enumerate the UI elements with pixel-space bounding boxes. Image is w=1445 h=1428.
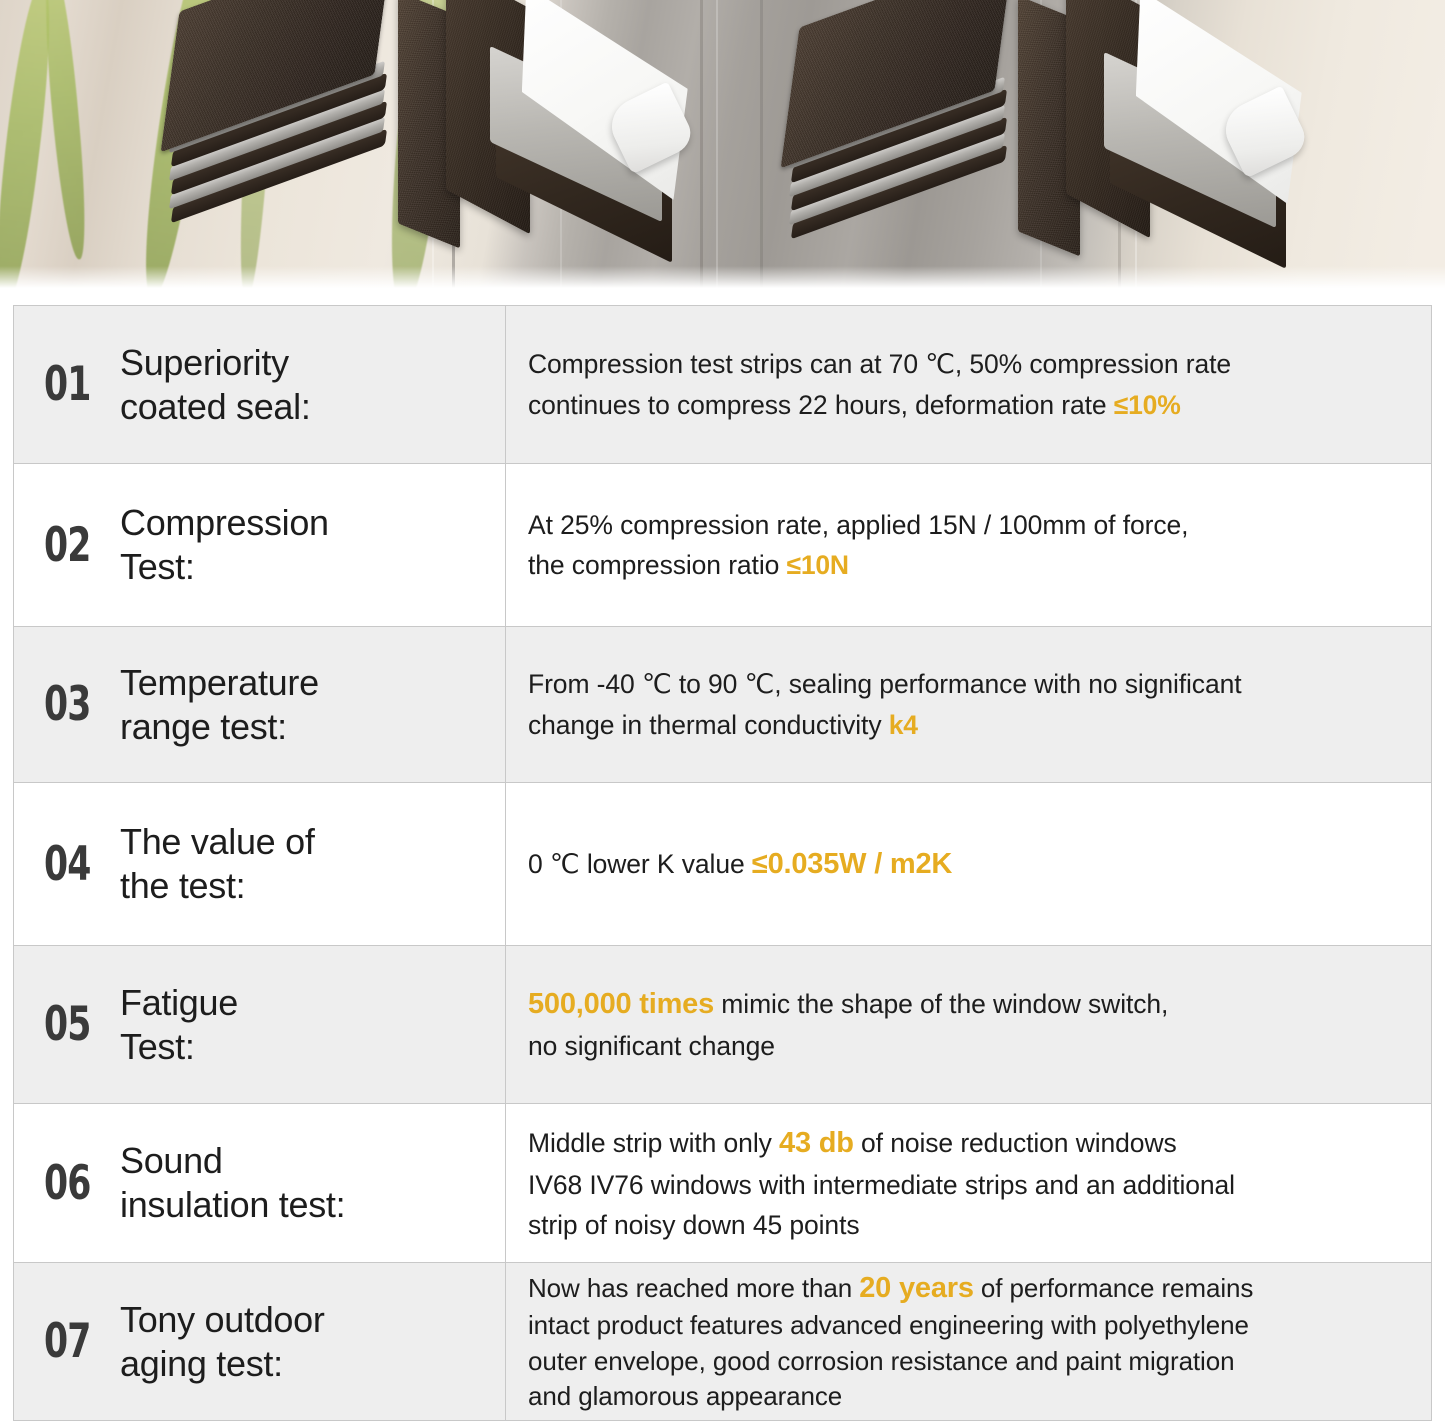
- spec-number: 04: [44, 841, 92, 888]
- spec-label: Tony outdoor aging test:: [120, 1298, 325, 1386]
- spec-highlight: k4: [889, 710, 918, 740]
- hero-bottom-fade: [0, 266, 1445, 290]
- table-row: 05 Fatigue Test: 500,000 times mimic the…: [14, 946, 1432, 1104]
- spec-body-cell: Middle strip with only 43 db of noise re…: [506, 1104, 1432, 1263]
- spec-label-cell: 05 Fatigue Test:: [14, 946, 506, 1104]
- spec-label-cell: 04 The value of the test:: [14, 783, 506, 946]
- spec-label-cell: 03 Temperature range test:: [14, 627, 506, 783]
- spec-body-cell: 500,000 times mimic the shape of the win…: [506, 946, 1432, 1104]
- spec-label-cell: 07 Tony outdoor aging test:: [14, 1263, 506, 1421]
- spec-label: The value of the test:: [120, 820, 315, 908]
- spec-label: Sound insulation test:: [120, 1139, 345, 1227]
- spec-body-pre: Now has reached more than: [528, 1273, 859, 1303]
- product-group-right: [770, 0, 1330, 290]
- spec-body-pre: Middle strip with only: [528, 1128, 779, 1158]
- spec-label-cell: 02 Compression Test:: [14, 464, 506, 627]
- spec-body-cell: Now has reached more than 20 years of pe…: [506, 1263, 1432, 1421]
- spec-body-cell: From -40 ℃ to 90 ℃, sealing performance …: [506, 627, 1432, 783]
- spec-body-cell: At 25% compression rate, applied 15N / 1…: [506, 464, 1432, 627]
- spec-body: From -40 ℃ to 90 ℃, sealing performance …: [528, 664, 1413, 745]
- spec-highlight: 43 db: [779, 1127, 854, 1159]
- table-row: 03 Temperature range test: From -40 ℃ to…: [14, 627, 1432, 783]
- spec-label: Fatigue Test:: [120, 981, 238, 1069]
- spec-body: At 25% compression rate, applied 15N / 1…: [528, 505, 1413, 586]
- spec-body-cell: Compression test strips can at 70 ℃, 50%…: [506, 306, 1432, 464]
- spec-number: 03: [44, 681, 92, 728]
- spec-body: Now has reached more than 20 years of pe…: [528, 1269, 1413, 1415]
- spec-body: 500,000 times mimic the shape of the win…: [528, 982, 1413, 1066]
- table-row: 01 Superiority coated seal: Compression …: [14, 306, 1432, 464]
- spec-number: 01: [44, 361, 92, 408]
- spec-label-cell: 01 Superiority coated seal:: [14, 306, 506, 464]
- table-row: 02 Compression Test: At 25% compression …: [14, 464, 1432, 627]
- product-hero-image: [0, 0, 1445, 290]
- spec-label: Superiority coated seal:: [120, 341, 311, 429]
- spec-body-cell: 0 ℃ lower K value ≤0.035W / m2K: [506, 783, 1432, 946]
- spec-highlight: 500,000 times: [528, 988, 714, 1020]
- spec-body: Compression test strips can at 70 ℃, 50%…: [528, 344, 1413, 425]
- spec-body-pre: At 25% compression rate, applied 15N / 1…: [528, 510, 1188, 580]
- table-row: 07 Tony outdoor aging test: Now has reac…: [14, 1263, 1432, 1421]
- spec-highlight: ≤10%: [1114, 390, 1181, 420]
- table-row: 04 The value of the test: 0 ℃ lower K va…: [14, 783, 1432, 946]
- spec-label: Compression Test:: [120, 501, 329, 589]
- infographic-page: 01 Superiority coated seal: Compression …: [0, 0, 1445, 1428]
- spec-highlight: ≤0.035W / m2K: [752, 848, 952, 880]
- spec-body: Middle strip with only 43 db of noise re…: [528, 1121, 1413, 1246]
- spec-highlight: ≤10N: [787, 550, 849, 580]
- spec-table-body: 01 Superiority coated seal: Compression …: [14, 306, 1432, 1421]
- spec-number: 07: [44, 1318, 92, 1365]
- spec-body-pre: From -40 ℃ to 90 ℃, sealing performance …: [528, 669, 1242, 739]
- spec-number: 06: [44, 1160, 92, 1207]
- product-group-left: [140, 0, 700, 290]
- spec-number: 05: [44, 1001, 92, 1048]
- spec-body: 0 ℃ lower K value ≤0.035W / m2K: [528, 842, 1413, 886]
- spec-label-cell: 06 Sound insulation test:: [14, 1104, 506, 1263]
- spec-label: Temperature range test:: [120, 661, 319, 749]
- spec-number: 02: [44, 522, 92, 569]
- table-row: 06 Sound insulation test: Middle strip w…: [14, 1104, 1432, 1263]
- spec-body-pre: 0 ℃ lower K value: [528, 849, 752, 879]
- spec-highlight: 20 years: [859, 1272, 974, 1304]
- specification-table: 01 Superiority coated seal: Compression …: [13, 305, 1432, 1421]
